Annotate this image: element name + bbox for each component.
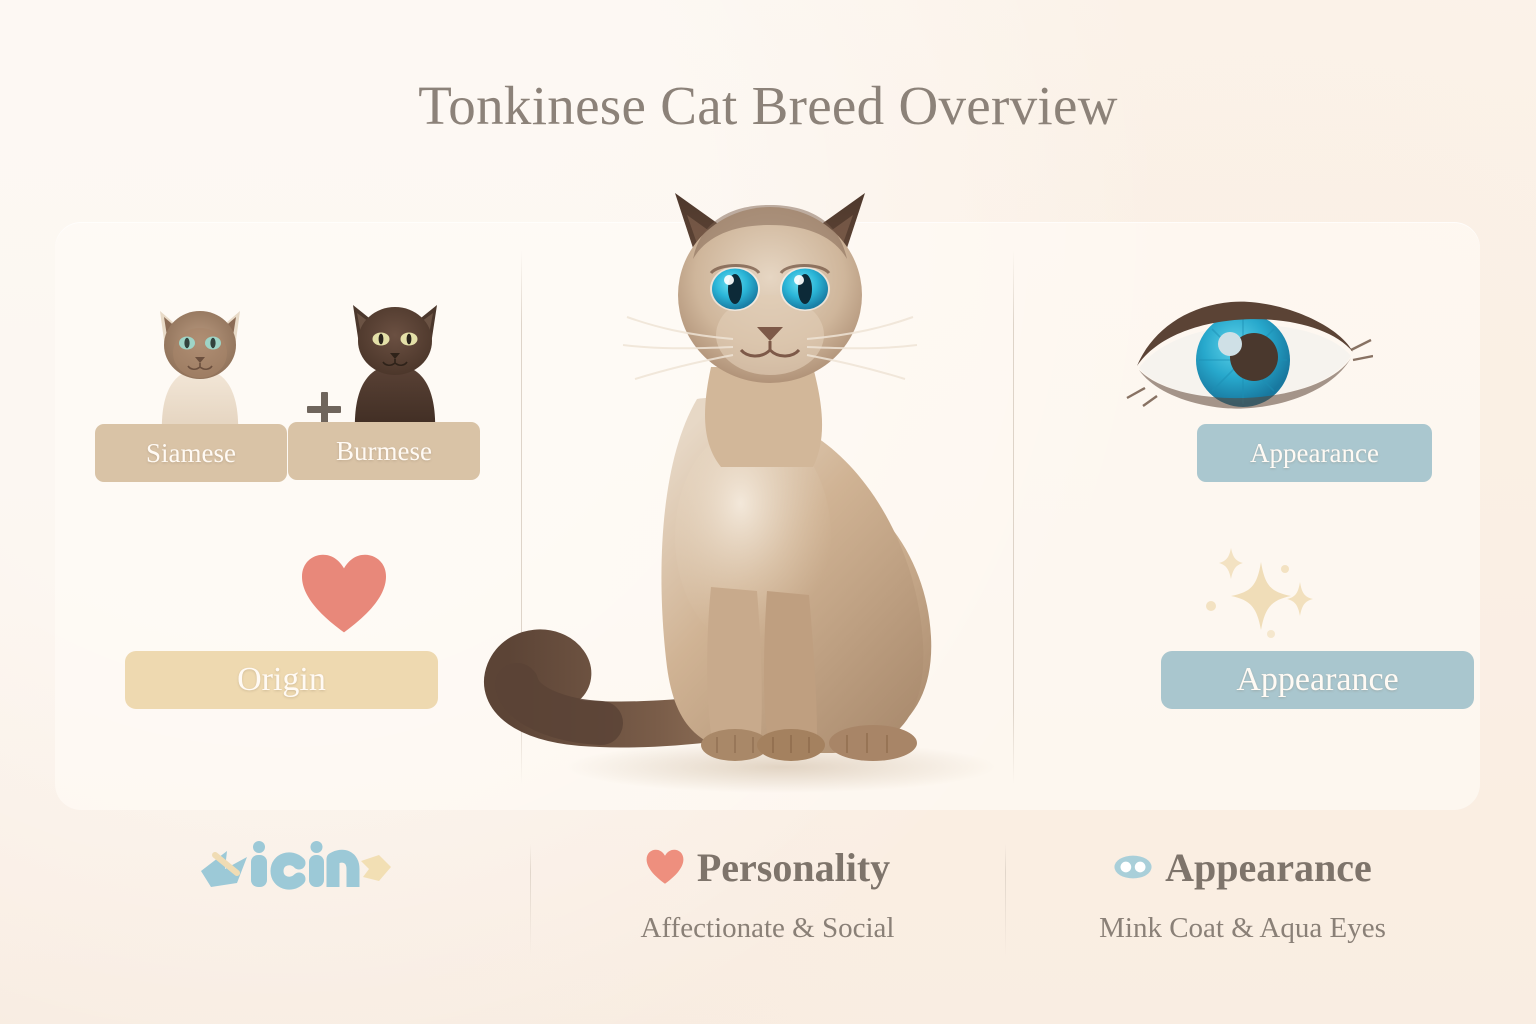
brand-logo-icon [193,841,393,893]
legend-item-personality[interactable]: Personality Affectionate & Social [530,838,1005,988]
heart-icon [298,552,390,636]
legend-item-brand[interactable] [55,838,530,988]
tonkinese-cat-illustration [461,167,1081,817]
badge-origin[interactable]: Origin [125,651,438,709]
appearance-panel: Appearance Appearance [1013,222,1480,810]
badge-appearance-bottom[interactable]: Appearance [1161,651,1474,709]
badge-siamese[interactable]: Siamese [95,424,287,482]
legend-item-appearance[interactable]: Appearance Mink Coat & Aqua Eyes [1005,838,1480,988]
legend-divider-left [530,844,531,956]
legend-appearance-title: Appearance [1165,844,1372,891]
legend-row: Personality Affectionate & Social Appear… [55,838,1480,988]
eye-icon [1123,284,1373,434]
page-title: Tonkinese Cat Breed Overview [0,74,1536,137]
sparkles-icon [1199,542,1329,642]
eyes-icon [1113,848,1153,886]
legend-personality-title: Personality [697,844,890,891]
badge-burmese[interactable]: Burmese [288,422,480,480]
legend-personality-subtitle: Affectionate & Social [641,912,895,945]
cat-portrait-panel [521,222,1013,810]
badge-appearance-top[interactable]: Appearance [1197,424,1432,482]
heart-icon [645,848,685,886]
legend-divider-right [1005,844,1006,956]
origin-panel: Siamese Burmese Origin [55,222,521,810]
legend-appearance-subtitle: Mink Coat & Aqua Eyes [1099,912,1386,945]
content-card: Siamese Burmese Origin [55,222,1480,810]
